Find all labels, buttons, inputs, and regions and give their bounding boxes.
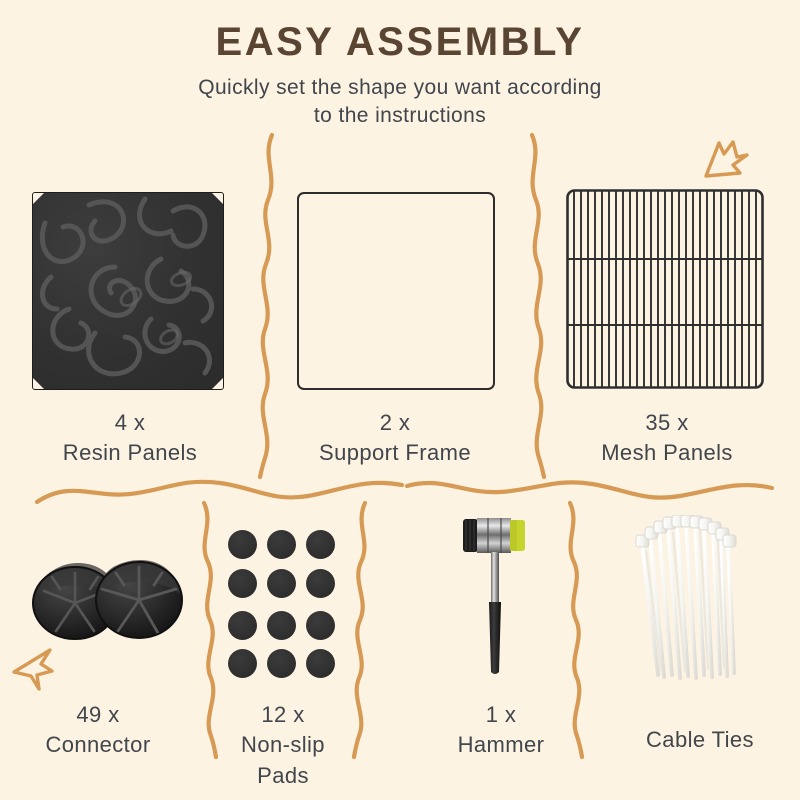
support-frame-qty: 2 x <box>268 408 522 438</box>
panel-corner-notch <box>33 378 44 389</box>
resin-panels-name: Resin Panels <box>0 438 260 468</box>
cursor-arrow-icon-top-right <box>700 136 752 184</box>
horizontal-squiggle-divider-left <box>34 472 406 508</box>
resin-panel-icon <box>32 192 224 390</box>
panel-corner-notch <box>212 193 223 204</box>
connector-name: Connector <box>0 730 196 760</box>
panel-corner-notch <box>33 193 44 204</box>
mesh-panels-name: Mesh Panels <box>540 438 794 468</box>
cable-ties-name: Cable Ties <box>600 725 800 755</box>
support-frame-name: Support Frame <box>268 438 522 468</box>
non-slip-pads-qty: 12 x <box>205 700 361 730</box>
infographic-canvas: EASY ASSEMBLY Quickly set the shape you … <box>0 0 800 800</box>
panel-corner-notch <box>212 378 223 389</box>
pad-icon <box>306 569 335 598</box>
pad-icon <box>267 530 296 559</box>
caption-support-frame: 2 x Support Frame <box>268 408 522 469</box>
horizontal-squiggle-divider-right <box>404 472 776 508</box>
pad-icon <box>267 649 296 678</box>
page-title: EASY ASSEMBLY <box>0 22 800 62</box>
subtitle-line-2: to the instructions <box>0 102 800 130</box>
caption-connector: 49 x Connector <box>0 700 196 761</box>
caption-non-slip-pads: 12 x Non-slip Pads <box>205 700 361 791</box>
mesh-panels-qty: 35 x <box>540 408 794 438</box>
pad-icon <box>306 611 335 640</box>
header: EASY ASSEMBLY Quickly set the shape you … <box>0 0 800 131</box>
connector-qty: 49 x <box>0 700 196 730</box>
resin-panels-qty: 4 x <box>0 408 260 438</box>
non-slip-pads-name-line-2: Pads <box>205 761 361 791</box>
non-slip-pads-name-line-1: Non-slip <box>205 730 361 760</box>
caption-hammer: 1 x Hammer <box>390 700 612 761</box>
subtitle-line-1: Quickly set the shape you want according <box>0 74 800 102</box>
hammer-name: Hammer <box>390 730 612 760</box>
pad-icon <box>228 611 257 640</box>
pad-icon <box>267 569 296 598</box>
mesh-panel-icon <box>565 188 765 390</box>
hammer-qty: 1 x <box>390 700 612 730</box>
caption-cable-ties: Cable Ties <box>600 725 800 755</box>
caption-mesh-panels: 35 x Mesh Panels <box>540 408 794 469</box>
hammer-icon <box>455 512 545 677</box>
pad-icon <box>267 611 296 640</box>
support-frame-icon <box>297 192 495 390</box>
pad-icon <box>228 530 257 559</box>
page-subtitle: Quickly set the shape you want according… <box>0 74 800 131</box>
cursor-arrow-icon-bottom-left <box>10 644 62 694</box>
caption-resin-panels: 4 x Resin Panels <box>0 408 260 469</box>
pad-icon <box>228 569 257 598</box>
pad-icon-group <box>228 530 338 678</box>
pad-icon <box>228 649 257 678</box>
pad-icon <box>306 649 335 678</box>
pad-icon <box>306 530 335 559</box>
cable-ties-icon <box>628 515 758 680</box>
connector-icon <box>30 555 190 640</box>
